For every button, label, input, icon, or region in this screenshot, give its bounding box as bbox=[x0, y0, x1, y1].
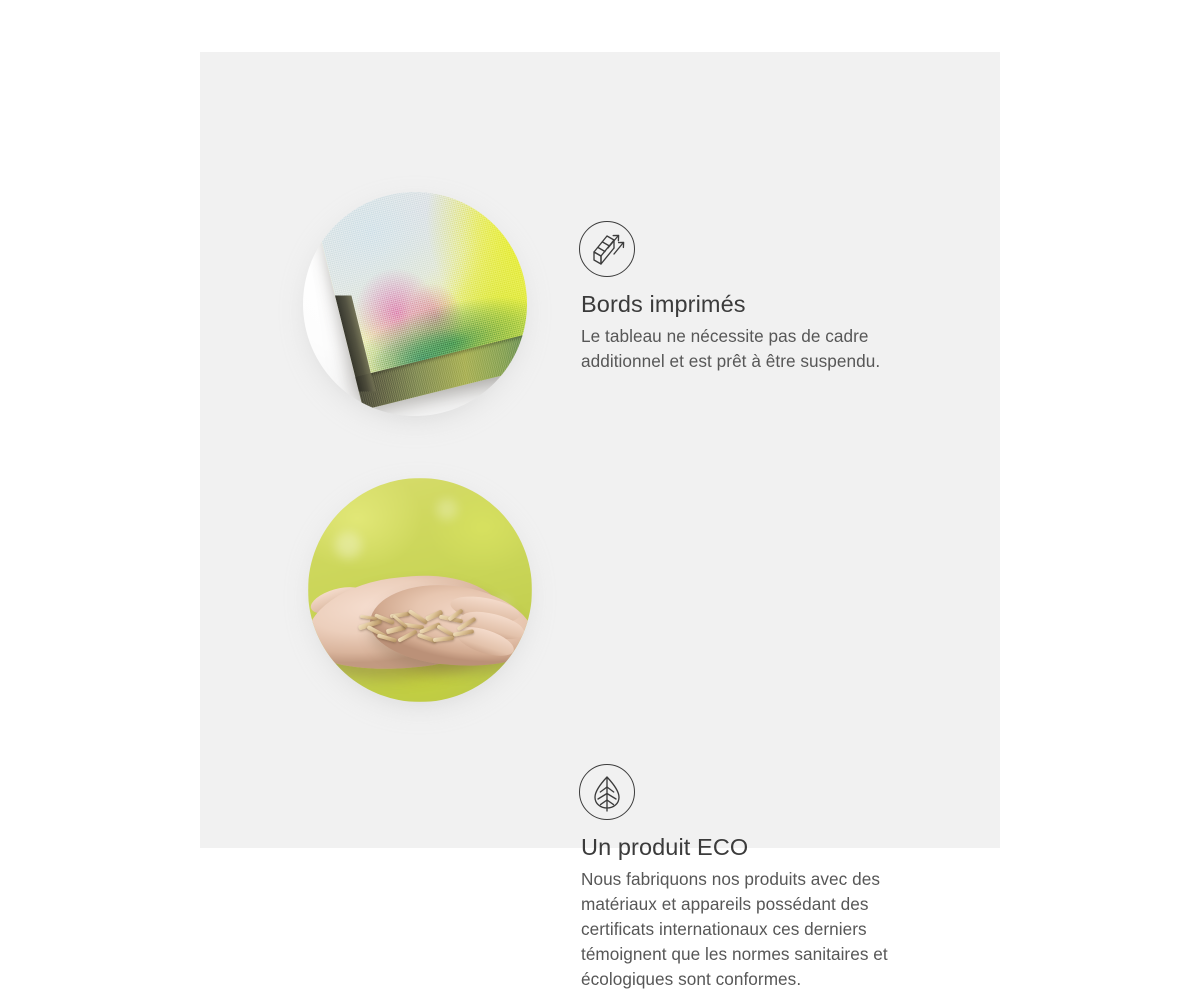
feature-body-line: écologiques sont conformes. bbox=[581, 967, 953, 992]
page-stage: Bords imprimés Le tableau ne nécessite p… bbox=[0, 0, 1200, 900]
feature-body-line: matériaux et appareils possédant des bbox=[581, 892, 953, 917]
wood-chip bbox=[397, 630, 418, 644]
wood-chips-pile bbox=[355, 612, 495, 647]
feature-title: Un produit ECO bbox=[581, 833, 953, 861]
feature-body-line: Le tableau ne nécessite pas de cadre bbox=[581, 324, 953, 349]
feature-body-line: additionnel et est prêt à être suspendu. bbox=[581, 349, 953, 374]
printed-edges-icon bbox=[579, 221, 635, 277]
wood-chips-hands-photo bbox=[308, 478, 532, 702]
feature-body-line: certificats internationaux ces derniers bbox=[581, 917, 953, 942]
feature-body-line: témoignent que les normes sanitaires et bbox=[581, 942, 953, 967]
leaf-icon bbox=[579, 764, 635, 820]
wood-chip bbox=[433, 636, 454, 642]
canvas-corner-photo bbox=[303, 192, 527, 416]
photo-circle-clip bbox=[308, 478, 532, 702]
wood-chip bbox=[377, 634, 397, 643]
feature-text-eco-product: Un produit ECO Nous fabriquons nos produ… bbox=[581, 833, 953, 992]
feature-body: Nous fabriquons nos produits avec des ma… bbox=[581, 867, 953, 992]
feature-title: Bords imprimés bbox=[581, 290, 953, 318]
wood-chip bbox=[453, 630, 474, 638]
feature-body: Le tableau ne nécessite pas de cadre add… bbox=[581, 324, 953, 374]
feature-panel: Bords imprimés Le tableau ne nécessite p… bbox=[200, 52, 1000, 848]
feature-text-printed-edges: Bords imprimés Le tableau ne nécessite p… bbox=[581, 290, 953, 374]
photo-circle-clip bbox=[303, 192, 527, 416]
cupped-hands bbox=[308, 568, 532, 684]
feature-body-line: Nous fabriquons nos produits avec des bbox=[581, 867, 953, 892]
